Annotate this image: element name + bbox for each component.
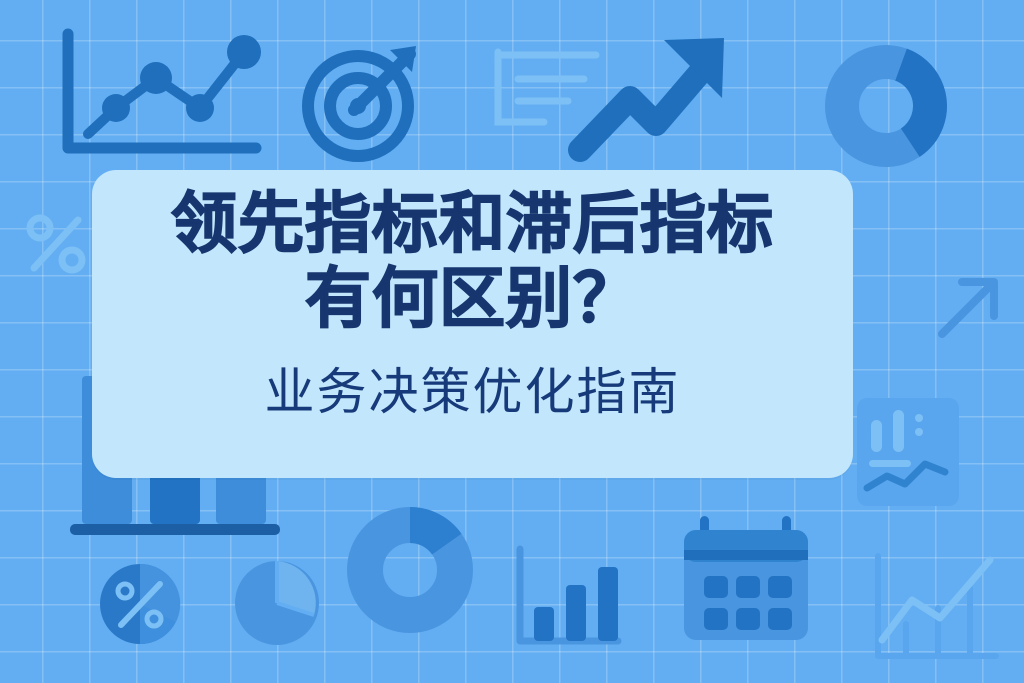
- arrow-up-right-icon: [936, 258, 1016, 348]
- donut-chart-icon: [346, 506, 474, 634]
- target-bullseye-icon: [302, 42, 422, 162]
- pie-chart-icon: [232, 558, 322, 648]
- bar-chart-small-icon: [512, 545, 622, 655]
- report-card-icon: [855, 396, 961, 508]
- poster-canvas: 领先指标和滞后指标 有何区别？ 业务决策优化指南: [0, 0, 1024, 683]
- page-subtitle: 业务决策优化指南: [265, 352, 681, 424]
- trend-up-arrow-icon: [572, 32, 732, 162]
- line-chart-icon: [60, 30, 260, 160]
- trend-line-chart-icon: [872, 552, 1002, 672]
- donut-chart-icon: [824, 44, 948, 168]
- title-card: 领先指标和滞后指标 有何区别？ 业务决策优化指南: [92, 170, 853, 478]
- percent-symbol-icon: [22, 210, 92, 280]
- calendar-icon: [678, 514, 814, 646]
- page-title: 领先指标和滞后指标 有何区别？: [171, 186, 774, 336]
- percent-circle-icon: [98, 562, 182, 646]
